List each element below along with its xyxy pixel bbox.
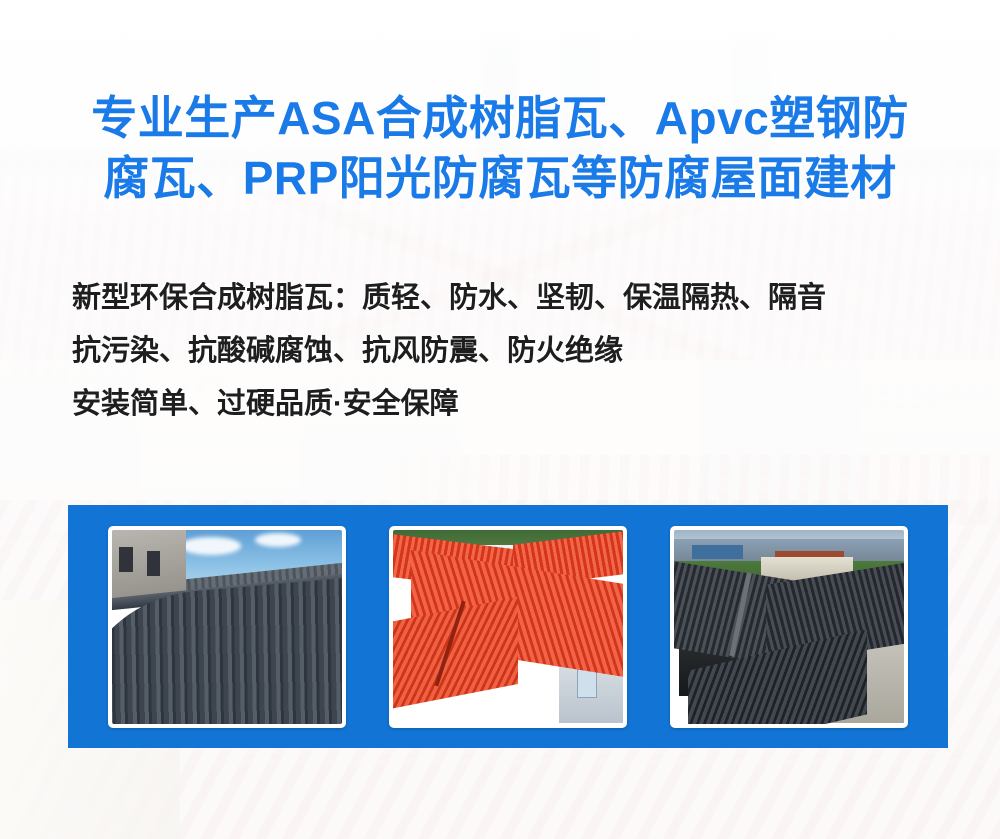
- gallery-photo-2[interactable]: [389, 526, 627, 728]
- headline-line-2: 腐瓦、PRP阳光防腐瓦等防腐屋面建材: [0, 148, 1000, 208]
- photo2-window: [577, 669, 597, 698]
- photo-dark-tile-roof-village: [674, 530, 904, 724]
- photo3-blue-roof: [692, 545, 743, 559]
- photo1-window: [147, 551, 161, 576]
- product-banner: 专业生产ASA合成树脂瓦、Apvc塑钢防 腐瓦、PRP阳光防腐瓦等防腐屋面建材 …: [0, 0, 1000, 839]
- photo-gallery-panel: [68, 505, 948, 748]
- banner-subtext: 新型环保合成树脂瓦：质轻、防水、坚韧、保温隔热、隔音 抗污染、抗酸碱腐蚀、抗风防…: [72, 272, 972, 431]
- photo1-cloud: [181, 537, 241, 554]
- gallery-photo-3[interactable]: [670, 526, 908, 728]
- photo-dark-grey-barrel-tile-roof: [112, 530, 342, 724]
- subtext-line-1: 新型环保合成树脂瓦：质轻、防水、坚韧、保温隔热、隔音: [72, 272, 972, 325]
- photo1-window: [119, 547, 133, 572]
- banner-headline: 专业生产ASA合成树脂瓦、Apvc塑钢防 腐瓦、PRP阳光防腐瓦等防腐屋面建材: [0, 88, 1000, 208]
- headline-line-1: 专业生产ASA合成树脂瓦、Apvc塑钢防: [0, 88, 1000, 148]
- subtext-line-3: 安装简单、过硬品质·安全保障: [72, 378, 972, 431]
- photo1-cloud: [255, 533, 301, 547]
- gallery-photo-1[interactable]: [108, 526, 346, 728]
- subtext-line-2: 抗污染、抗酸碱腐蚀、抗风防震、防火绝缘: [72, 325, 972, 378]
- photo-red-tile-roof-buildings: [393, 530, 623, 724]
